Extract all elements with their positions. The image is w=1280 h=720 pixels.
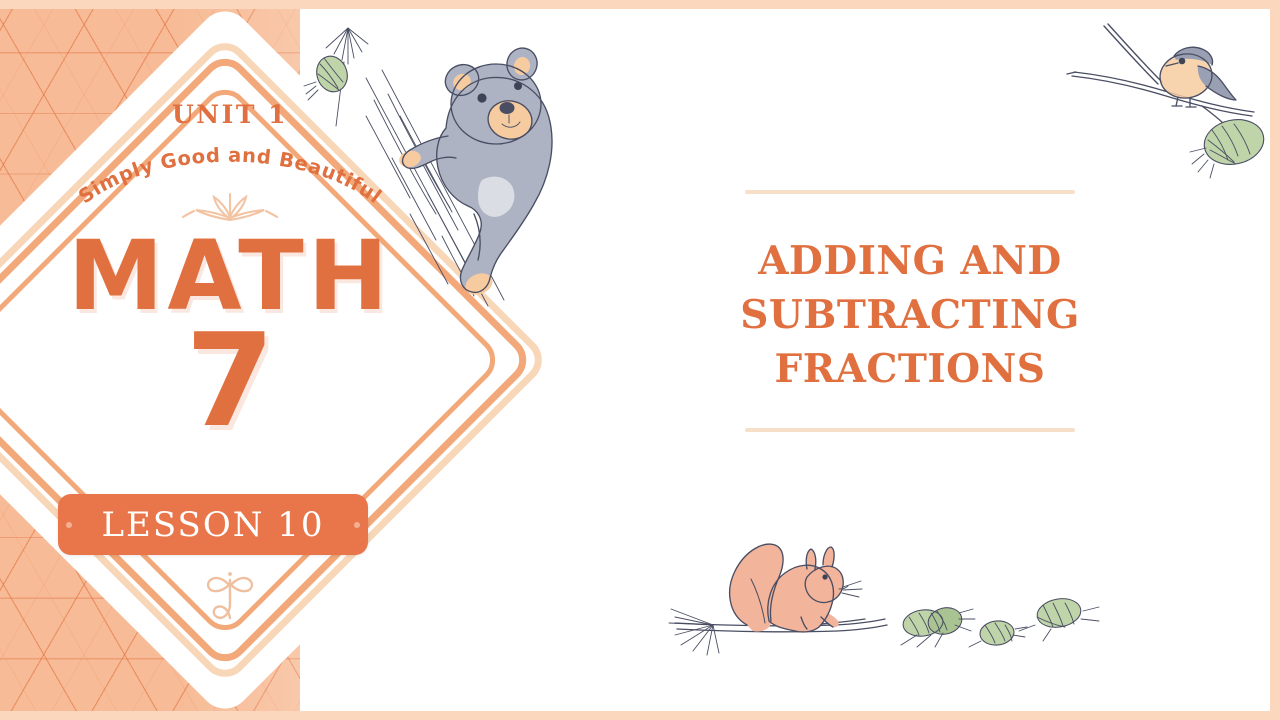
- slide-title: ADDING AND SUBTRACTING FRACTIONS: [700, 194, 1120, 428]
- title-rule-bottom: [745, 428, 1075, 432]
- bear-cub-climbing-tree-icon: [296, 8, 576, 308]
- lesson-plaque: LESSON 10: [58, 494, 368, 555]
- title-line-3: FRACTIONS: [710, 342, 1110, 396]
- lesson-label: LESSON 10: [101, 505, 324, 545]
- grade-number: 7: [0, 318, 460, 446]
- flourish-ornament-icon: [0, 568, 460, 628]
- squirrel-on-branch-icon: [655, 525, 1105, 665]
- lesson-title-slide: UNIT 1 Simply Good and Beautiful: [0, 0, 1280, 720]
- title-line-2: SUBTRACTING: [710, 288, 1110, 342]
- title-line-1: ADDING AND: [710, 234, 1110, 288]
- bird-on-branch-icon: [1062, 14, 1262, 194]
- slide-title-block: ADDING AND SUBTRACTING FRACTIONS: [700, 190, 1120, 432]
